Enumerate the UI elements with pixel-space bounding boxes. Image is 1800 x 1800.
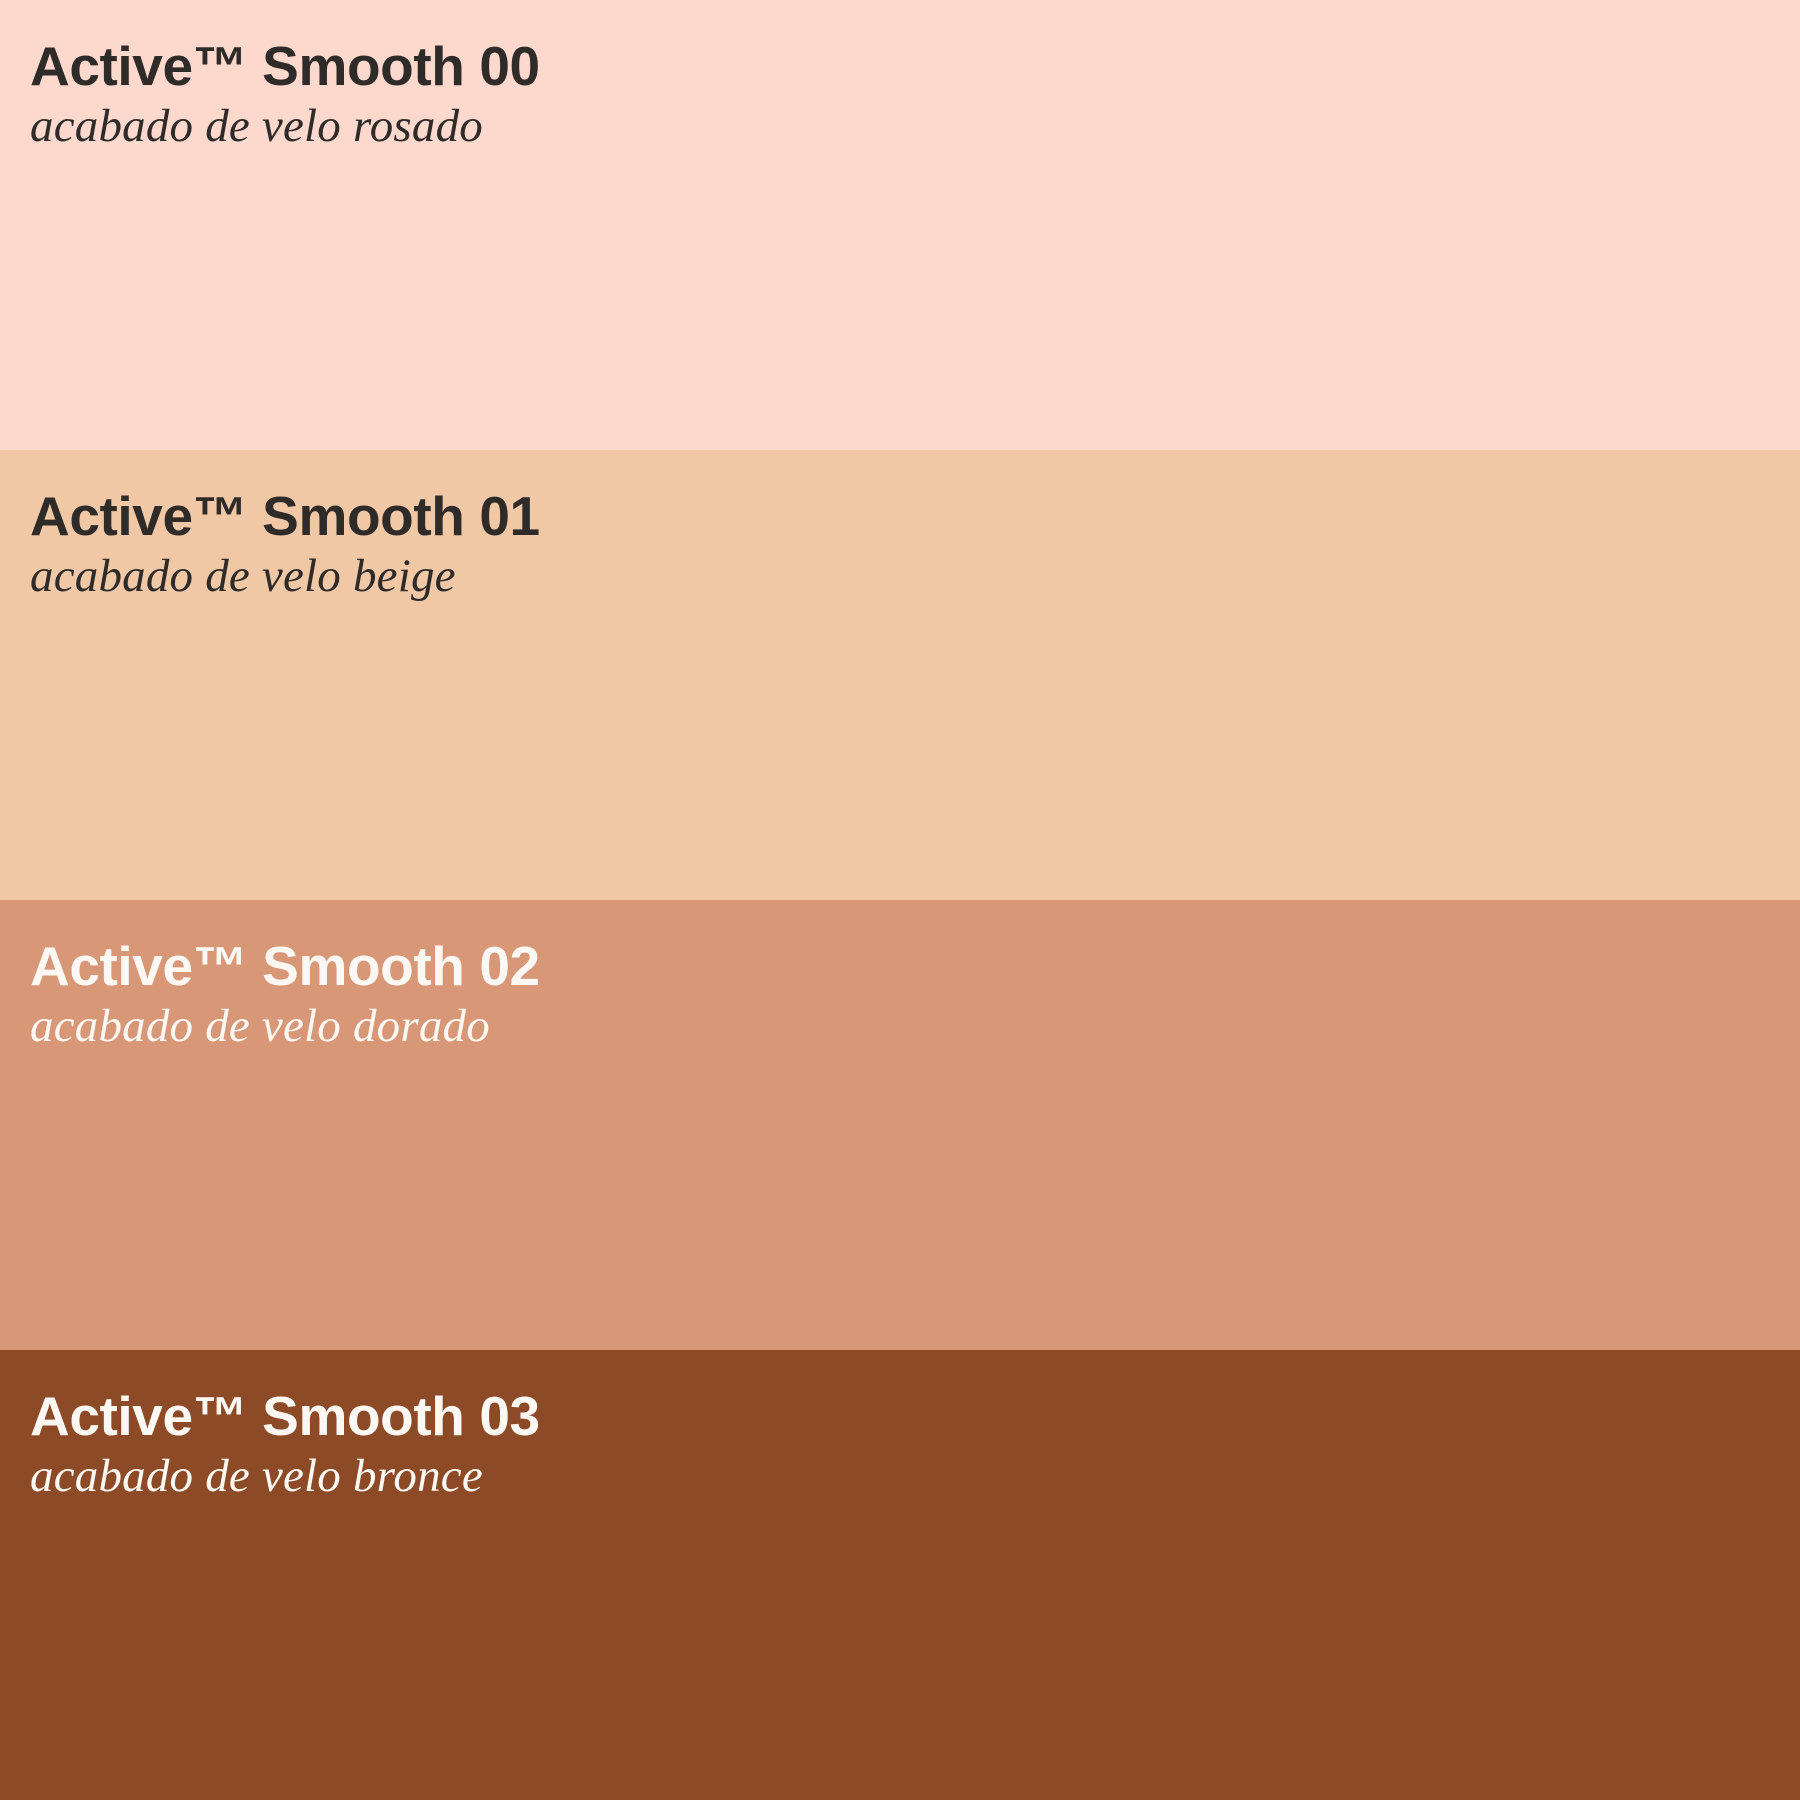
swatch-finish-description: acabado de velo dorado bbox=[30, 998, 1800, 1054]
swatch-band-02[interactable]: Active™ Smooth 02 acabado de velo dorado bbox=[0, 900, 1800, 1350]
swatch-finish-description: acabado de velo rosado bbox=[30, 98, 1800, 154]
swatch-band-00[interactable]: Active™ Smooth 00 acabado de velo rosado bbox=[0, 0, 1800, 450]
swatch-title: Active™ Smooth 02 bbox=[30, 934, 1800, 998]
swatch-finish-description: acabado de velo beige bbox=[30, 548, 1800, 604]
swatch-band-01[interactable]: Active™ Smooth 01 acabado de velo beige bbox=[0, 450, 1800, 900]
swatch-title: Active™ Smooth 03 bbox=[30, 1384, 1800, 1448]
swatch-title: Active™ Smooth 00 bbox=[30, 34, 1800, 98]
swatch-finish-description: acabado de velo bronce bbox=[30, 1448, 1800, 1504]
swatch-title: Active™ Smooth 01 bbox=[30, 484, 1800, 548]
shade-swatch-stack: Active™ Smooth 00 acabado de velo rosado… bbox=[0, 0, 1800, 1800]
swatch-band-03[interactable]: Active™ Smooth 03 acabado de velo bronce bbox=[0, 1350, 1800, 1800]
